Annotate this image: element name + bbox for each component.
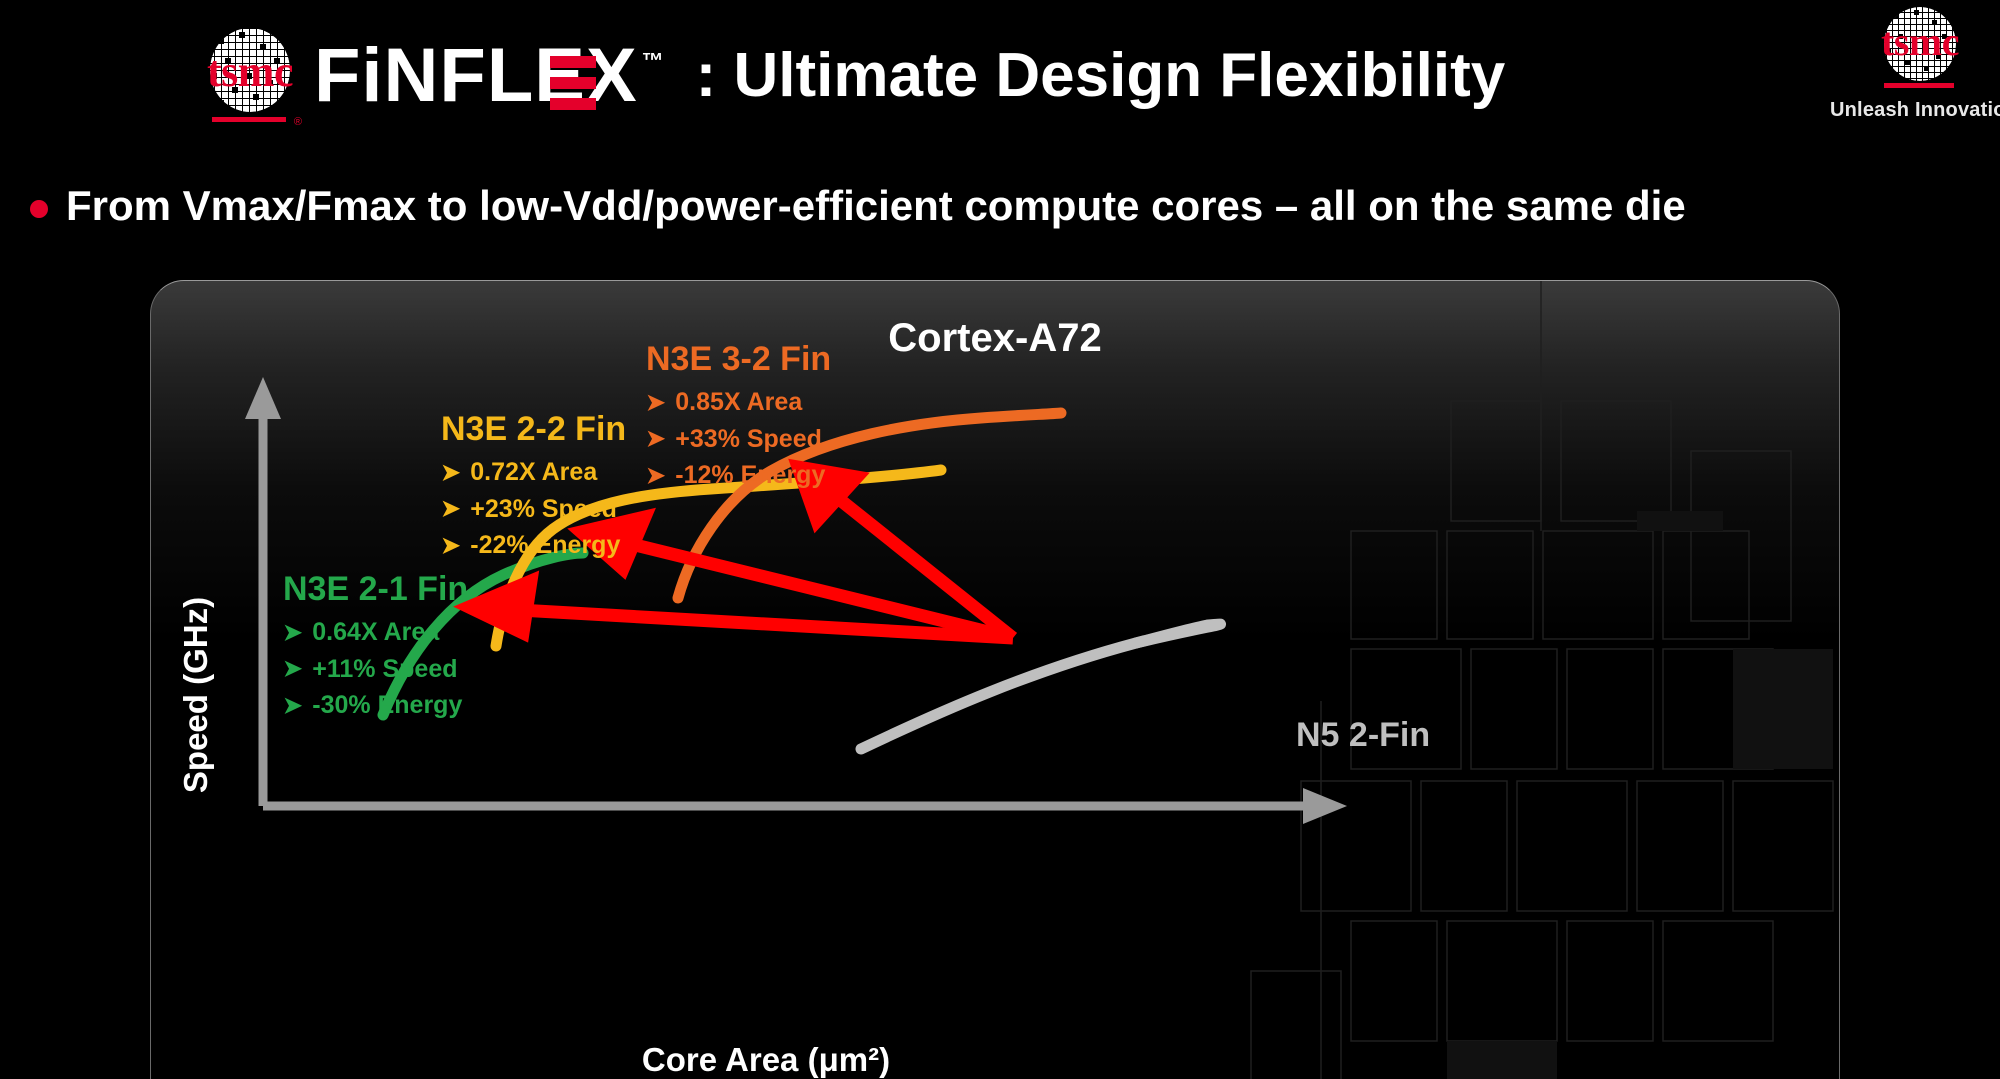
callout-item-text: 0.85X Area [675,384,802,420]
x-axis-arrowhead [1303,788,1347,824]
corner-logo: tsmc Unleash Innovation [1830,6,2000,122]
x-axis-label: Core Area (μm²) [151,1041,1381,1079]
callout-n3e-3-2-fin: N3E 3-2 Fin ➤ 0.85X Area ➤ +33% Speed ➤ … [646,341,831,493]
callout-item-text: +11% Speed [312,651,457,687]
arrow-bullet-icon: ➤ [646,427,665,450]
callout-item: ➤ +11% Speed [283,651,468,687]
die-floorplan-fills [1447,511,1833,1079]
arrow-bullet-icon: ➤ [283,621,302,644]
callout-item-text: -22% Energy [470,527,620,563]
arrow-bullet-icon: ➤ [441,461,460,484]
finflex-wordmark: FiNFLEX ™ [314,38,664,114]
arrow-bullet-icon: ➤ [441,497,460,520]
callout-item: ➤ +33% Speed [646,421,831,457]
callout-title-n3e-2-2-fin: N3E 2-2 Fin [441,411,626,448]
callout-item-text: -30% Energy [312,687,462,723]
bullet-row: From Vmax/Fmax to low-Vdd/power-efficien… [30,182,1686,230]
tsmc-underbar [212,117,286,122]
callout-item: ➤ 0.72X Area [441,454,626,490]
slide-header: tsmc ® FiNFLEX ™ : Ultimate Design Flexi… [0,0,2000,150]
series-curve-n5-2-fin [861,624,1221,749]
series-label-n5-2-fin: N5 2-Fin [1296,716,1430,755]
bullet-dot-icon [30,200,48,218]
arrow-bullet-icon: ➤ [441,534,460,557]
chart-panel: Cortex-A72 [150,280,1840,1079]
registered-mark: ® [294,116,302,128]
title-row: tsmc ® FiNFLEX ™ : Ultimate Design Flexi… [200,28,1505,124]
callout-item: ➤ -22% Energy [441,527,626,563]
arrow-bullet-icon: ➤ [283,657,302,680]
callout-title-n3e-3-2-fin: N3E 3-2 Fin [646,341,831,378]
callout-item: ➤ 0.64X Area [283,614,468,650]
page-title: : Ultimate Design Flexibility [696,45,1506,107]
arrow-bullet-icon: ➤ [283,694,302,717]
callout-list-n3e-2-1-fin: ➤ 0.64X Area ➤ +11% Speed ➤ -30% Energy [283,614,468,723]
finflex-text: FiNFLEX [314,38,638,114]
callout-item: ➤ -30% Energy [283,687,468,723]
finflex-e-bars-icon [550,56,596,110]
x-axis-label-text: Core Area (μm²) [642,1041,890,1078]
callout-n3e-2-1-fin: N3E 2-1 Fin ➤ 0.64X Area ➤ +11% Speed ➤ … [283,571,468,723]
callout-list-n3e-3-2-fin: ➤ 0.85X Area ➤ +33% Speed ➤ -12% Energy [646,384,831,493]
arrow-bullet-icon: ➤ [646,391,665,414]
arrow-bullet-icon: ➤ [646,464,665,487]
tsmc-wordmark: tsmc [200,24,300,120]
y-axis-label: Speed (GHz) [177,565,215,825]
callout-item: ➤ +23% Speed [441,491,626,527]
tsmc-corner-underbar [1884,83,1954,88]
tsmc-logo: tsmc ® [200,28,300,124]
y-axis-arrowhead [245,377,281,419]
callout-title-n3e-2-1-fin: N3E 2-1 Fin [283,571,468,608]
tsmc-corner-logo: tsmc [1874,6,1966,90]
callout-item-text: 0.64X Area [312,614,439,650]
callout-item-text: 0.72X Area [470,454,597,490]
bullet-text: From Vmax/Fmax to low-Vdd/power-efficien… [66,182,1686,230]
corner-tagline: Unleash Innovation [1830,99,2000,122]
trademark-symbol: ™ [642,48,664,74]
callout-n3e-2-2-fin: N3E 2-2 Fin ➤ 0.72X Area ➤ +23% Speed ➤ … [441,411,626,563]
callout-item-text: +33% Speed [675,421,822,457]
callout-item-text: -12% Energy [675,457,825,493]
callout-item-text: +23% Speed [470,491,617,527]
callout-list-n3e-2-2-fin: ➤ 0.72X Area ➤ +23% Speed ➤ -22% Energy [441,454,626,563]
tsmc-corner-wordmark: tsmc [1874,0,1966,84]
callout-item: ➤ 0.85X Area [646,384,831,420]
callout-item: ➤ -12% Energy [646,457,831,493]
